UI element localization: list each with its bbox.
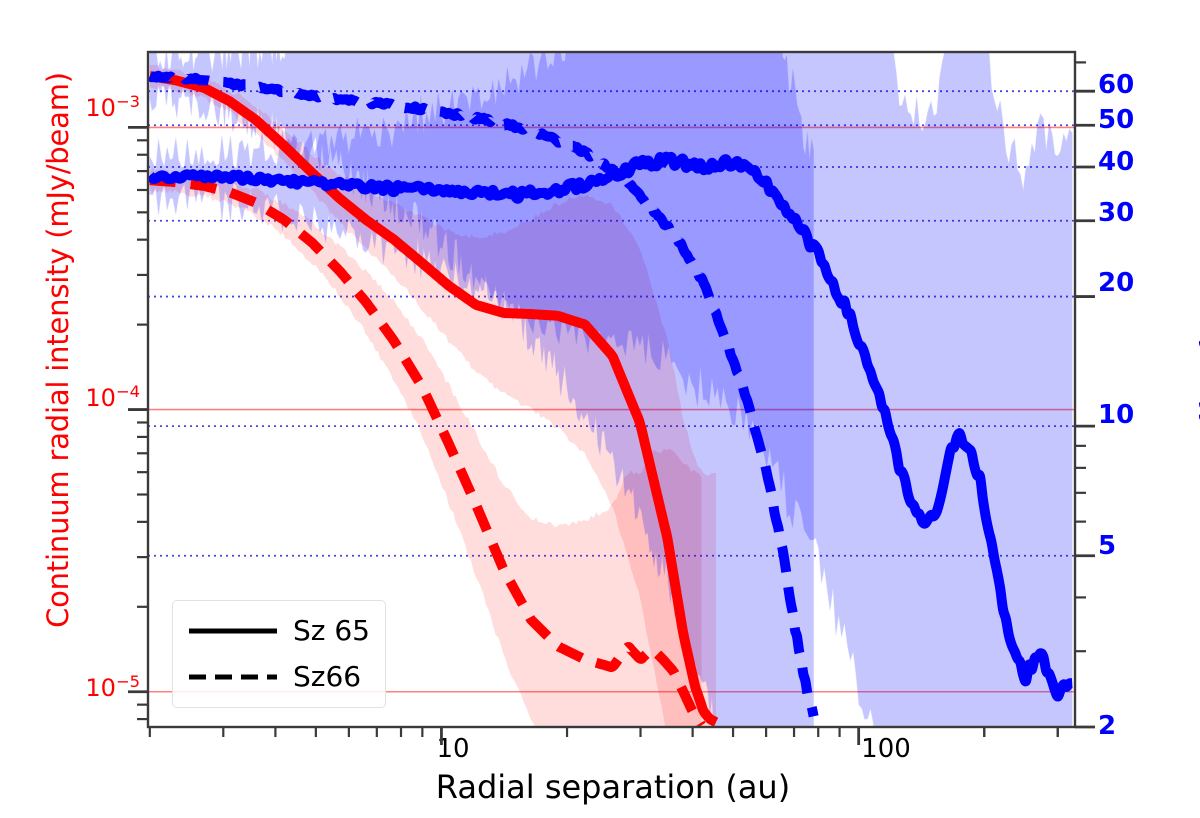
legend: Sz 65 Sz66	[172, 600, 386, 708]
legend-label-sz66: Sz66	[293, 657, 361, 697]
legend-line-solid	[187, 611, 279, 651]
legend-item-sz65: Sz 65	[187, 611, 279, 651]
legend-line-dashed	[187, 657, 279, 697]
figure-root: Continuum radial intensity (mJy/beam) CO…	[0, 0, 1200, 818]
legend-item-sz66: Sz66	[187, 657, 279, 697]
legend-label-sz65: Sz 65	[293, 611, 370, 651]
